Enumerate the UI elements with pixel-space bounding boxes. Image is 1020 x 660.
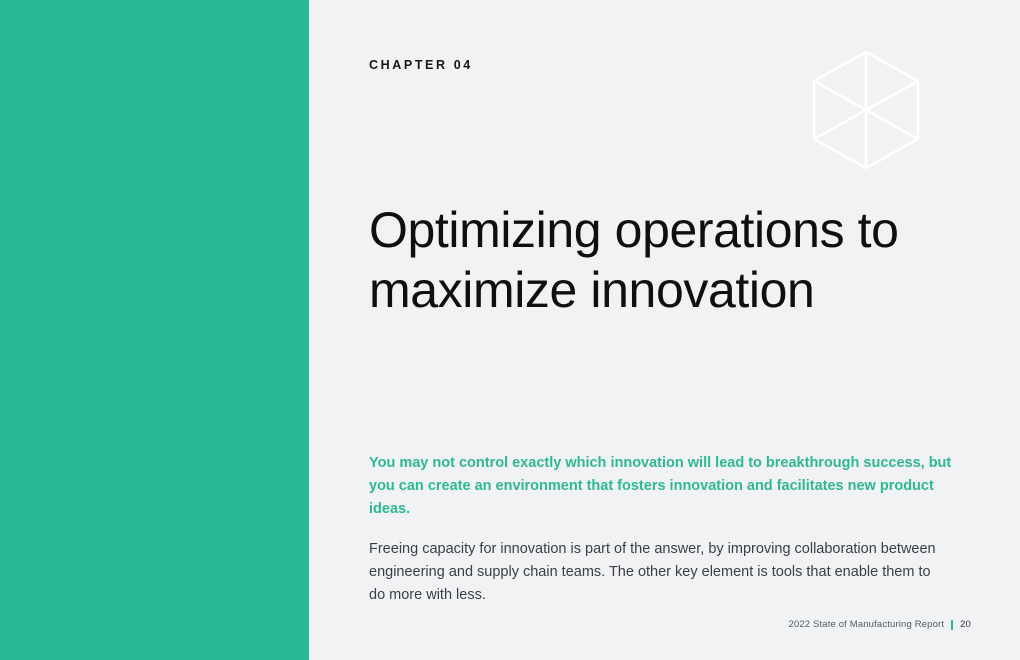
- document-page: CHAPTER 04 Optimizing operations to maxi…: [0, 0, 1020, 660]
- page-footer: 2022 State of Manufacturing Report 20: [789, 619, 972, 630]
- lede-paragraph: You may not control exactly which innova…: [369, 452, 954, 521]
- footer-report-title: 2022 State of Manufacturing Report: [789, 619, 945, 630]
- footer-divider: [951, 620, 953, 630]
- page-content: CHAPTER 04 Optimizing operations to maxi…: [309, 0, 1020, 660]
- page-title: Optimizing operations to maximize innova…: [369, 200, 929, 320]
- chapter-label: CHAPTER 04: [369, 58, 473, 72]
- body-paragraph: Freeing capacity for innovation is part …: [369, 538, 949, 607]
- hexagon-cube-outline-icon: [812, 50, 920, 170]
- sidebar-accent-band: [0, 0, 309, 660]
- footer-page-number: 20: [960, 619, 971, 630]
